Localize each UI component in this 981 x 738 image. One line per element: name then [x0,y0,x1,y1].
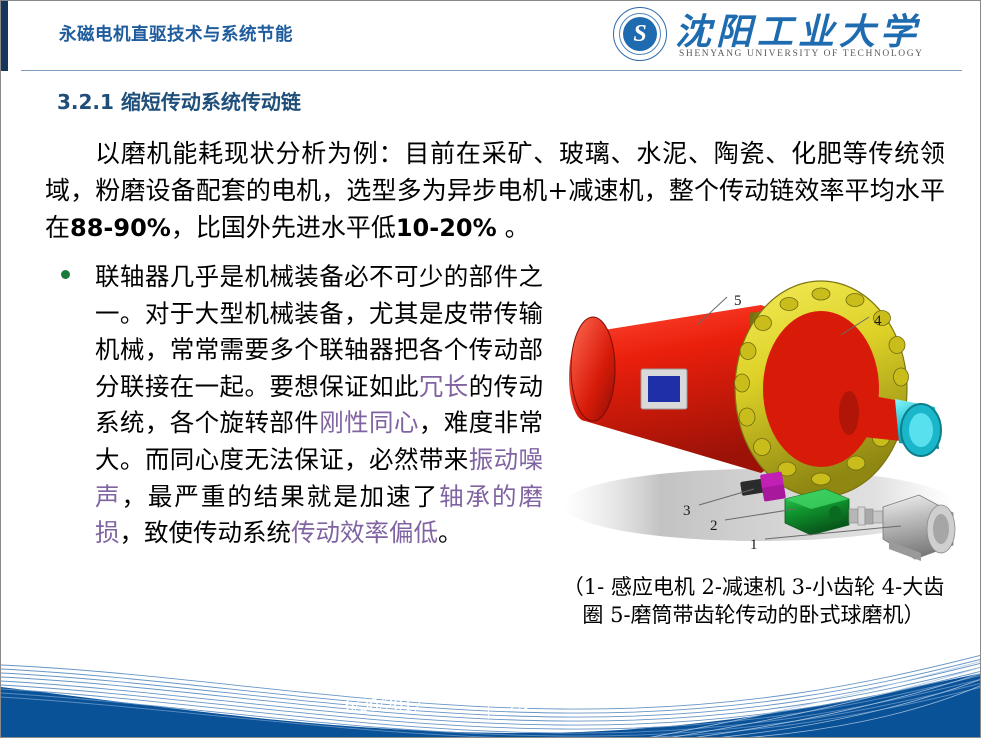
trunnion-bore [909,413,933,447]
footer-page-number: 23 [509,695,528,717]
intro-text-part3: 。 [497,213,530,242]
header-title: 永磁电机直驱技术与系统节能 [59,21,293,46]
figure-callout-3: 3 [683,504,691,519]
figure-callout-2: 2 [710,519,718,534]
slide-canvas: 永磁电机直驱技术与系统节能 沈阳工业大学 SHENYANG UNIVERSITY… [0,0,981,738]
bullet-segment-3: 刚性同心 [319,408,419,437]
intro-stat-efficiency: 88-90% [70,214,171,242]
gear-hub-face [763,311,879,467]
bullet-segment-10: 。 [438,518,463,547]
figure-caption-line1: （1- 感应电机 2-减速机 3-小齿轮 4-大齿 [541,573,966,601]
bullet-segment-8: ，致使传动系统 [120,518,292,547]
intro-paragraph: 以磨机能耗现状分析为例：目前在采矿、玻璃、水泥、陶瓷、化肥等传统领域，粉磨设备配… [45,135,945,247]
figure-callout-5: 5 [734,294,742,309]
bullet-marker-icon [61,270,70,279]
slide-footer [1,621,981,738]
ball-mill-illustration [549,273,961,565]
figure-callout-1: 1 [750,538,758,553]
shaft-root [839,391,859,435]
university-logo: 沈阳工业大学 SHENYANG UNIVERSITY OF TECHNOLOGY [613,5,953,67]
seal-monogram-icon [623,17,657,51]
university-name-en: SHENYANG UNIVERSITY OF TECHNOLOGY [679,49,924,59]
footer-wave-decoration [1,621,981,738]
university-name-cn: 沈阳工业大学 [675,3,921,55]
footer-separator [488,691,489,719]
intro-stat-gap: 10-20% [396,214,497,242]
slide-header: 永磁电机直驱技术与系统节能 沈阳工业大学 SHENYANG UNIVERSITY… [1,1,981,71]
drum-front-cap [571,317,615,421]
intro-text-part2: ，比国外先进水平低 [171,213,396,242]
figure-callout-4: 4 [874,314,882,329]
inspection-hatch-window [648,376,680,402]
bullet-segment-6: ，最严重的结果就是加速了 [121,482,439,511]
page-title: 3.2.1 缩短传动系统传动链 [57,86,301,115]
ball-mill-figure: 54321 [549,273,961,565]
university-seal-icon [613,7,667,61]
header-divider [21,70,962,71]
footer-date: 6/30/2017 [345,695,422,717]
bullet-segment-9: 传动效率偏低 [291,518,438,547]
bullet-body-text: 联轴器几乎是机械装备必不可少的部件之一。对于大型机械装备，尤其是皮带传输机械，常… [95,259,543,552]
bullet-segment-1: 冗长 [419,372,469,401]
